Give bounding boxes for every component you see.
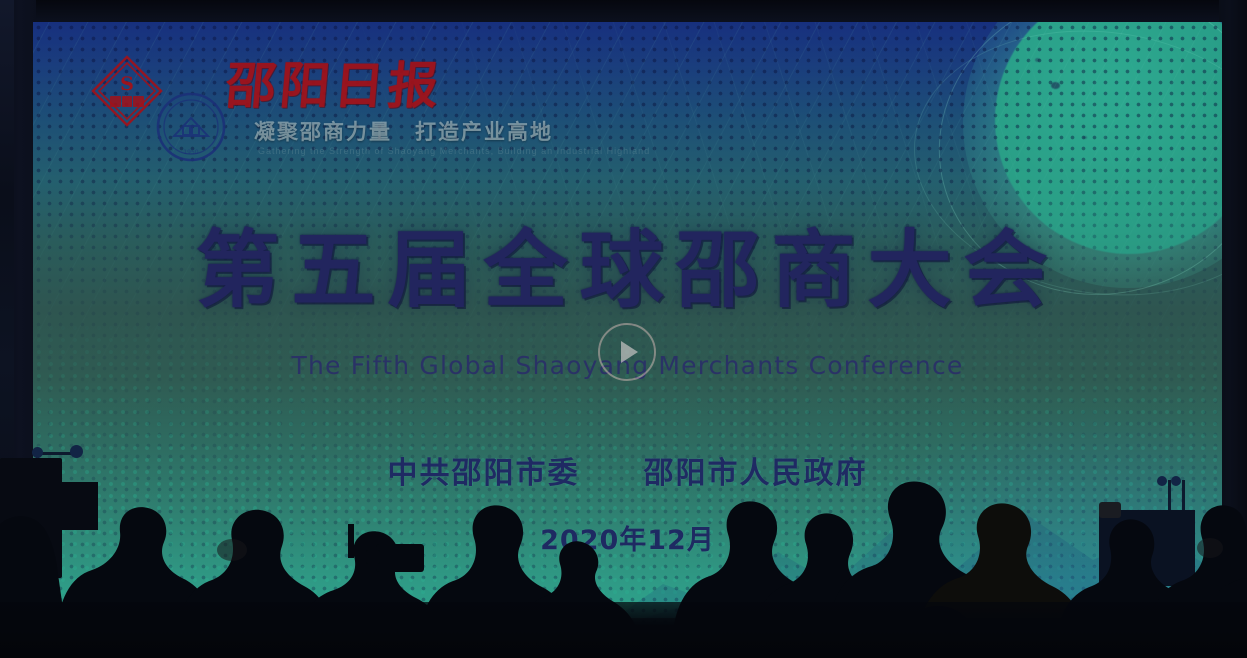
- left-wall-strip: [0, 0, 14, 658]
- conference-title: 第五届全球邵商大会: [33, 218, 1222, 322]
- play-button[interactable]: [598, 323, 656, 381]
- event-date: 2020年12月: [33, 524, 1222, 558]
- masthead-slogan: 凝聚邵商力量 打造产业高地: [254, 120, 553, 144]
- newspaper-title: 邵阳日报: [224, 58, 445, 114]
- organizers-line: 中共邵阳市委 邵阳市人民政府: [33, 454, 1222, 494]
- circular-seal-icon: 1950: [154, 88, 228, 166]
- svg-text:1950: 1950: [183, 149, 198, 156]
- right-wall: [1219, 0, 1247, 658]
- newspaper-masthead: S 1950 邵阳日报 凝聚邵商力量 打造产业高地 Gathe: [58, 40, 558, 150]
- screenshot-root: S 1950 邵阳日报 凝聚邵商力量 打造产业高地 Gathe: [0, 0, 1247, 658]
- diamond-seal-icon: S: [90, 54, 164, 128]
- masthead-slogan-english: Gathering the Strength of Shaoyang Merch…: [258, 146, 650, 157]
- ceiling-band: [0, 0, 1247, 24]
- svg-text:S: S: [120, 73, 134, 95]
- play-triangle-icon: [621, 341, 638, 363]
